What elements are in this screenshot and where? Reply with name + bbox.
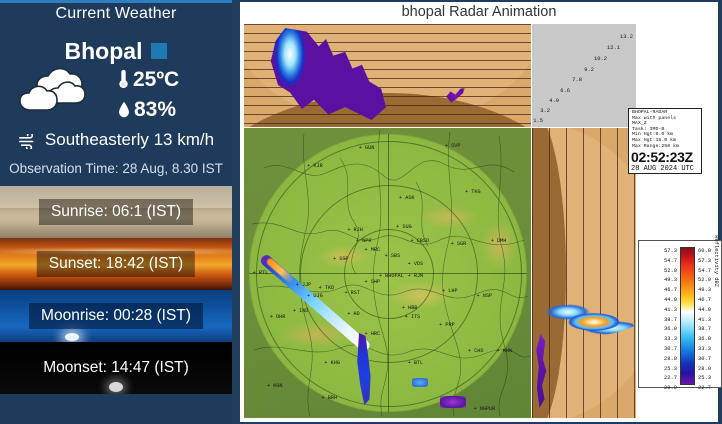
colorbar-tick-value: 20.0 [645,384,677,394]
radar-height-scale-panel: 13.2 12.1 10.2 9.2 7.8 6.6 4.9 3.2 1.5 [532,24,636,127]
colorbar-unit-label: Reflectivity dBZ [713,235,719,287]
radar-date: 28 AUG 2024 UTC [628,165,702,173]
colorbar-gradient [680,247,695,385]
ppi-city-label: ASK [399,195,415,201]
ppi-city-label: SBS [385,253,401,259]
ppi-city-label: RJN [408,273,424,279]
ppi-city-label: SGR [451,241,467,247]
colorbar-tick-value: 30.7 [698,355,722,365]
radar-panel: bhopal Radar Animation 13.2 12.1 10.2 9.… [240,2,718,422]
ppi-city-label: NSP [476,293,492,299]
height-tick-8: 1.5 [533,118,543,124]
height-tick-3: 9.2 [584,67,594,73]
colorbar-tick-value: 44.0 [645,296,677,306]
colorbar-tick-value: 46.7 [698,296,722,306]
ppi-city-label: GUN [359,145,375,151]
colorbar-left-values: 57.354.752.049.346.744.041.338.736.033.3… [645,247,677,394]
height-tick-1: 12.1 [607,45,620,51]
ppi-city-label: DHR [270,314,286,320]
ppi-city-label: DMH [491,238,507,244]
ppi-city-label: HD [347,311,359,317]
page-title: Current Weather [0,5,232,23]
height-tick-0: 13.2 [620,34,633,40]
wind-row: Southeasterly 13 km/h [0,130,232,154]
weather-radar-app: Current Weather Bhopal 25ºC [0,0,722,424]
rhi-right-gridlines [532,128,636,418]
colorbar-tick-value: 49.3 [645,276,677,286]
colorbar-tick-value: 25.3 [698,374,722,384]
ppi-city-label: PRP [439,322,455,328]
sunset-label: Sunset: 18:42 (IST) [37,251,195,277]
ppi-city-label: JJP [296,282,312,288]
ppi-city-label: IND [293,308,309,314]
colorbar-tick-value: 52.0 [645,267,677,277]
height-tick-5: 6.6 [560,88,570,94]
colorbar-tick-value: 36.0 [645,325,677,335]
colorbar-tick-value: 41.3 [698,316,722,326]
ppi-city-label: SGP [333,256,349,262]
temperature-value: 25ºC [133,68,179,91]
height-tick-4: 7.8 [572,77,582,83]
ppi-city-label: NPR [356,238,372,244]
cloudy-icon [18,62,92,120]
colorbar-tick-value: 46.7 [645,286,677,296]
colorbar-tick-value: 28.0 [698,365,722,375]
ppi-city-label: BTL [408,360,424,366]
ppi-city-label: TKG [465,189,481,195]
ppi-city-label: HBB [402,305,418,311]
height-tick-2: 10.2 [594,56,607,62]
colorbar-tick-value: 22.7 [645,374,677,384]
humidity-value: 83% [134,98,176,121]
radar-top-cross-section [244,24,531,127]
colorbar-tick-value: 33.3 [645,335,677,345]
ppi-city-label: LHP [442,288,458,294]
ppi-city-label: RST [344,290,360,296]
ppi-city-label: SUG [396,224,412,230]
colorbar-tick-value: 30.7 [645,345,677,355]
observation-time: Observation Time: 28 Aug, 8.30 IST [0,161,232,176]
ppi-city-label: KJR [307,163,323,169]
current-weather-sidebar: Current Weather Bhopal 25ºC [0,0,232,424]
ppi-city-label: KHG [324,360,340,366]
radar-ppi-map[interactable]: GUNSVPKJRTKGASKSUGRJHNPRCBSDSGRDMHMRCSBS… [244,128,531,418]
sunset-card[interactable]: Sunset: 18:42 (IST) [0,238,232,290]
colorbar-tick-value: 36.0 [698,335,722,345]
city-color-badge [151,43,167,59]
ppi-city-label: HRC [365,331,381,337]
colorbar-tick-value: 33.3 [698,345,722,355]
height-tick-6: 4.9 [549,98,559,104]
radar-title: bhopal Radar Animation [240,4,718,20]
ppi-city-label: CBSD [410,238,429,244]
wind-value: Southeasterly 13 km/h [45,130,214,149]
ppi-city-label: BHOPAL [379,273,404,279]
moonset-label: Moonset: 14:47 (IST) [31,355,201,381]
colorbar-tick-value: 41.3 [645,306,677,316]
humidity-row: 83% [118,98,176,125]
ppi-city-label: KHN [497,348,513,354]
radar-right-cross-section [532,128,636,418]
moonrise-label: Moonrise: 00:28 (IST) [29,303,203,329]
colorbar-tick-value: 49.3 [698,286,722,296]
city-name: Bhopal [65,38,143,64]
ppi-city-label: CHD [468,348,484,354]
colorbar-tick-value: 25.3 [645,365,677,375]
radar-image[interactable]: 13.2 12.1 10.2 9.2 7.8 6.6 4.9 3.2 1.5 [244,24,636,418]
radar-timestamp: 02:52:23Z [628,150,702,165]
ppi-city-label: VDS [408,261,424,267]
temperature-row: 25ºC [118,68,179,95]
water-drop-icon [118,100,130,125]
thermometer-icon [118,69,129,95]
height-tick-7: 3.2 [540,108,550,114]
moonset-card[interactable]: Moonset: 14:47 (IST) [0,342,232,394]
ppi-city-label: RTL [253,270,269,276]
colorbar-tick-value: 57.3 [645,247,677,257]
ppi-city-label: BRH [321,395,337,401]
ppi-city-label: SVP [445,143,461,149]
reflectivity-colorbar: 57.354.752.049.346.744.041.338.736.033.3… [638,240,722,388]
radar-echo-ppi-small [412,378,428,387]
ppi-city-label: TKD [319,285,335,291]
ppi-city-label: KGN [267,383,283,389]
colorbar-tick-value: 22.7 [698,384,722,394]
colorbar-tick-value: 28.0 [645,355,677,365]
ppi-city-label: RJH [347,227,363,233]
city-name-row: Bhopal [0,38,232,65]
ppi-city-label: ITS [405,314,421,320]
colorbar-tick-value: 44.0 [698,306,722,316]
colorbar-tick-value: 38.7 [698,325,722,335]
colorbar-tick-value: 54.7 [645,257,677,267]
ppi-city-label: NGPUR [474,406,496,412]
colorbar-tick-value: 38.7 [645,316,677,326]
sunrise-label: Sunrise: 06:1 (IST) [39,199,193,225]
moonrise-card[interactable]: Moonrise: 00:28 (IST) [0,290,232,342]
sunrise-card[interactable]: Sunrise: 06:1 (IST) [0,186,232,238]
radar-echo-ppi-southeast [440,396,466,408]
ppi-city-label: SHP [365,279,381,285]
ppi-city-label: UJG [307,293,323,299]
sidebar-top-accent-line [0,0,232,3]
ppi-city-label: MRC [365,247,381,253]
wind-icon [18,134,40,154]
